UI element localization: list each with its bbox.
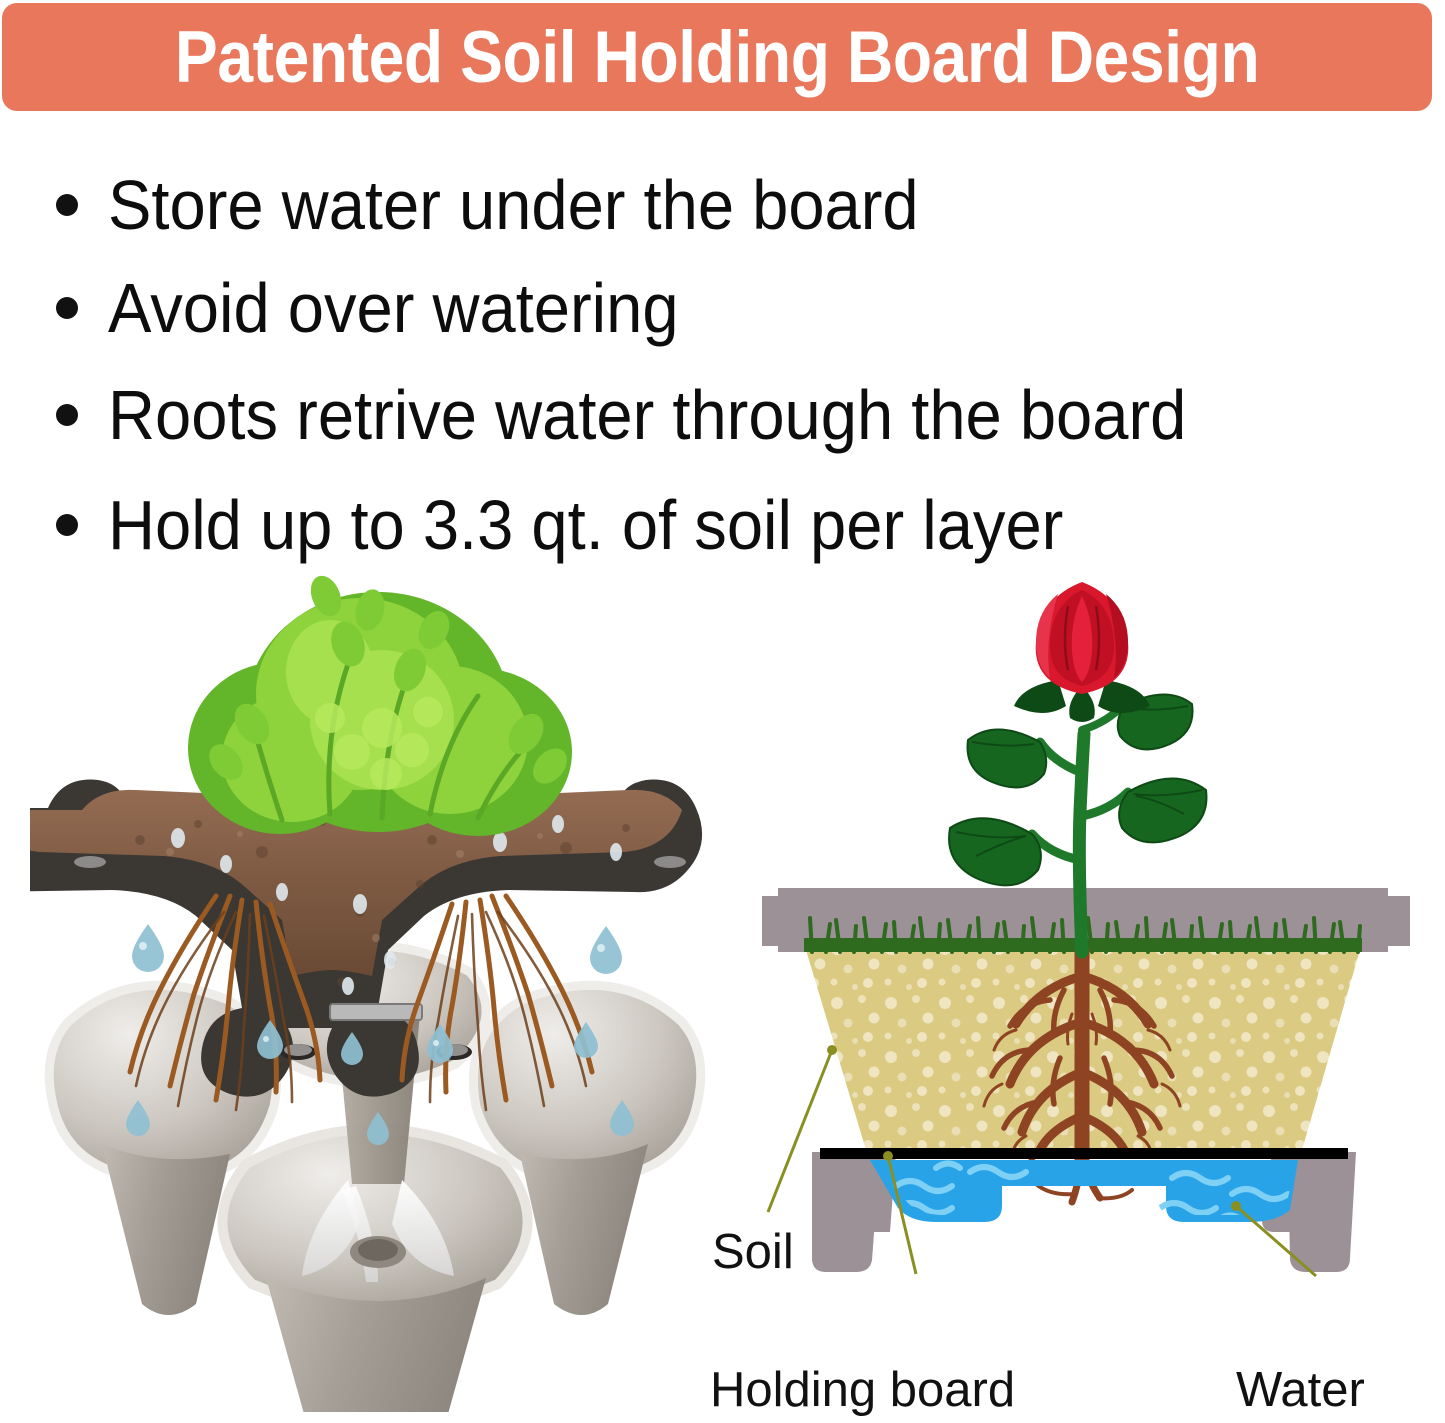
list-item: Roots retrive water through the board [56,380,1268,450]
list-item: Avoid over watering [56,273,722,343]
feature-label: Avoid over watering [108,273,679,343]
bullet-dot-icon [56,404,78,426]
soil-label: Soil [712,1228,794,1277]
cross-section-diagram: Soil Holding board Water [720,560,1445,1300]
header-banner: Patented Soil Holding Board Design [2,3,1432,111]
bullet-dot-icon [56,297,78,319]
holding-board-line [820,1148,1348,1159]
list-item: Hold up to 3.3 qt. of soil per layer [56,490,1135,560]
feature-label: Hold up to 3.3 qt. of soil per layer [108,490,1063,560]
bullet-dot-icon [56,194,78,216]
green-foliage [188,571,574,836]
cross-section-svg [720,560,1445,1300]
list-item: Store water under the board [56,170,980,240]
water-label: Water [1236,1366,1365,1415]
bullet-dot-icon [56,514,78,536]
product-photo-tower-planter [30,552,720,1412]
page-title: Patented Soil Holding Board Design [175,21,1259,94]
feature-label: Store water under the board [108,170,919,240]
holding-board-label: Holding board [710,1366,1015,1415]
product-photo-svg [30,552,720,1412]
water-reservoir [870,1160,1298,1225]
feature-label: Roots retrive water through the board [108,380,1186,450]
rose-bloom [1036,582,1129,694]
